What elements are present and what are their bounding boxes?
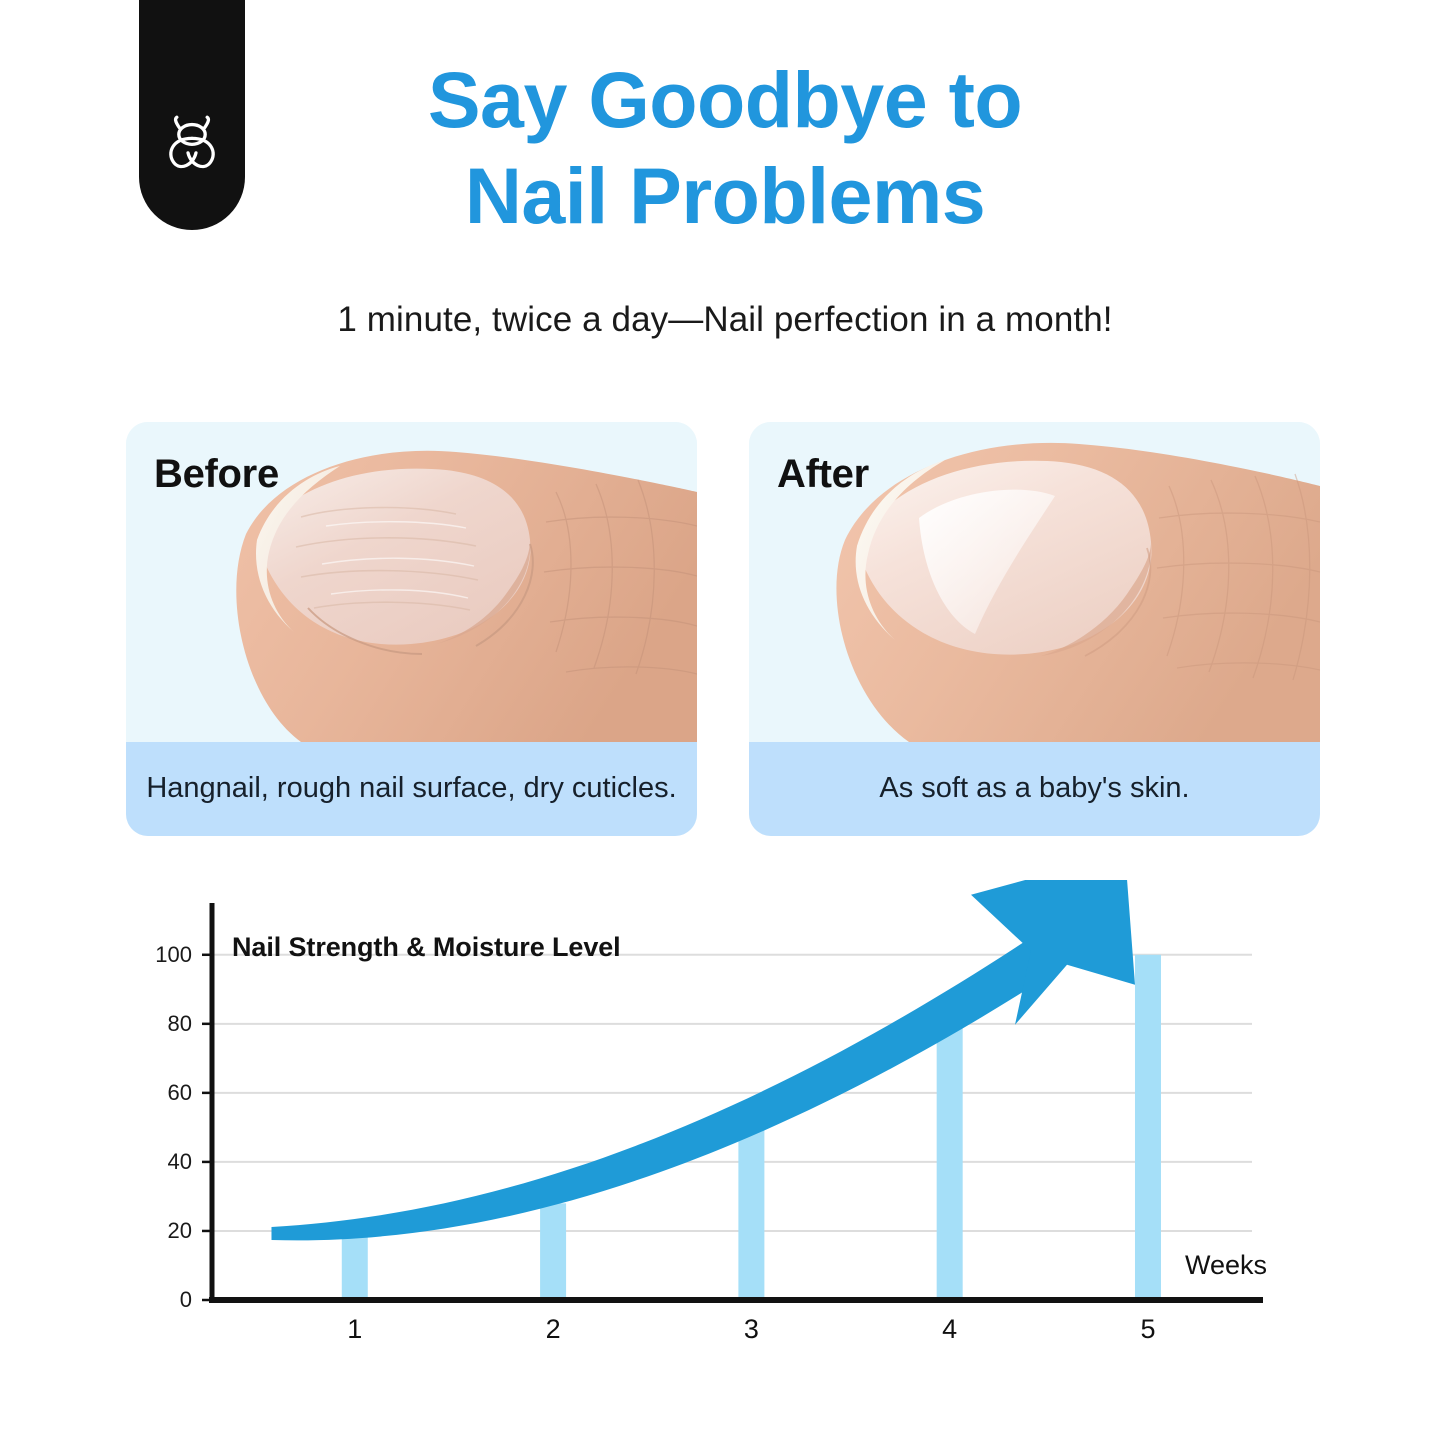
chart-bar (1135, 955, 1161, 1300)
x-tick-label: 5 (1140, 1314, 1155, 1345)
chart-gridlines (212, 955, 1252, 1231)
page-subtitle: 1 minute, twice a day—Nail perfection in… (130, 297, 1320, 343)
x-tick-label: 2 (546, 1314, 561, 1345)
before-after-comparison: Before Hangnail, rough nail surface, dry… (126, 422, 1320, 836)
x-axis-title: Weeks (1185, 1250, 1267, 1281)
y-tick-label: 40 (140, 1149, 192, 1175)
x-tick-label: 1 (347, 1314, 362, 1345)
growth-chart: Nail Strength & Moisture Level 020406080… (0, 880, 1445, 1340)
page-title-line-2: Nail Problems (250, 148, 1200, 244)
chart-bar (342, 1231, 368, 1300)
before-label: Before (154, 452, 279, 497)
y-tick-label: 0 (140, 1287, 192, 1313)
x-tick-label: 3 (744, 1314, 759, 1345)
after-label: After (777, 452, 869, 497)
chart-bar (937, 1017, 963, 1300)
chart-bar (540, 1203, 566, 1300)
bee-logo-icon (159, 112, 225, 178)
before-caption: Hangnail, rough nail surface, dry cuticl… (126, 742, 697, 836)
after-card: After As soft as a baby's skin. (749, 422, 1320, 836)
y-tick-label: 60 (140, 1080, 192, 1106)
after-caption: As soft as a baby's skin. (749, 742, 1320, 836)
brand-logo-tab (139, 0, 245, 230)
y-tick-label: 100 (140, 942, 192, 968)
page-title-line-1: Say Goodbye to (250, 52, 1200, 148)
page-title: Say Goodbye to Nail Problems (250, 52, 1200, 245)
infographic-page: Say Goodbye to Nail Problems 1 minute, t… (0, 0, 1445, 1445)
trend-arrow-body (271, 939, 1047, 1241)
y-tick-label: 80 (140, 1011, 192, 1037)
chart-title: Nail Strength & Moisture Level (232, 932, 621, 963)
y-tick-label: 20 (140, 1218, 192, 1244)
before-card: Before Hangnail, rough nail surface, dry… (126, 422, 697, 836)
x-tick-label: 4 (942, 1314, 957, 1345)
chart-bar (738, 1127, 764, 1300)
